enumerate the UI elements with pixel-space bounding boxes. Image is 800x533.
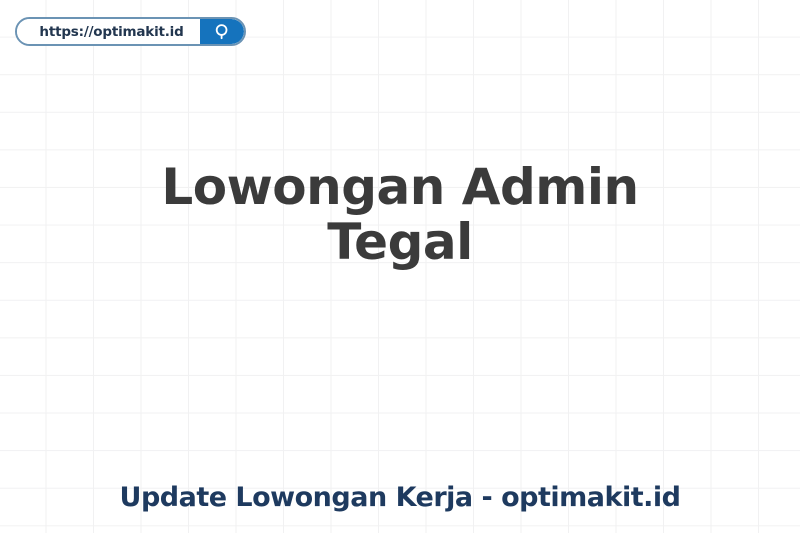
search-magnifier-icon xyxy=(214,23,231,40)
page-canvas: https://optimakit.id Lowongan Admin Tega… xyxy=(0,0,800,533)
url-search-bar[interactable]: https://optimakit.id xyxy=(15,17,246,46)
footer-caption: Update Lowongan Kerja - optimakit.id xyxy=(0,481,800,515)
search-button[interactable] xyxy=(200,19,244,44)
url-input-wrapper[interactable]: https://optimakit.id xyxy=(17,19,200,44)
page-title: Lowongan Admin Tegal xyxy=(0,160,800,270)
url-input[interactable]: https://optimakit.id xyxy=(39,24,183,40)
